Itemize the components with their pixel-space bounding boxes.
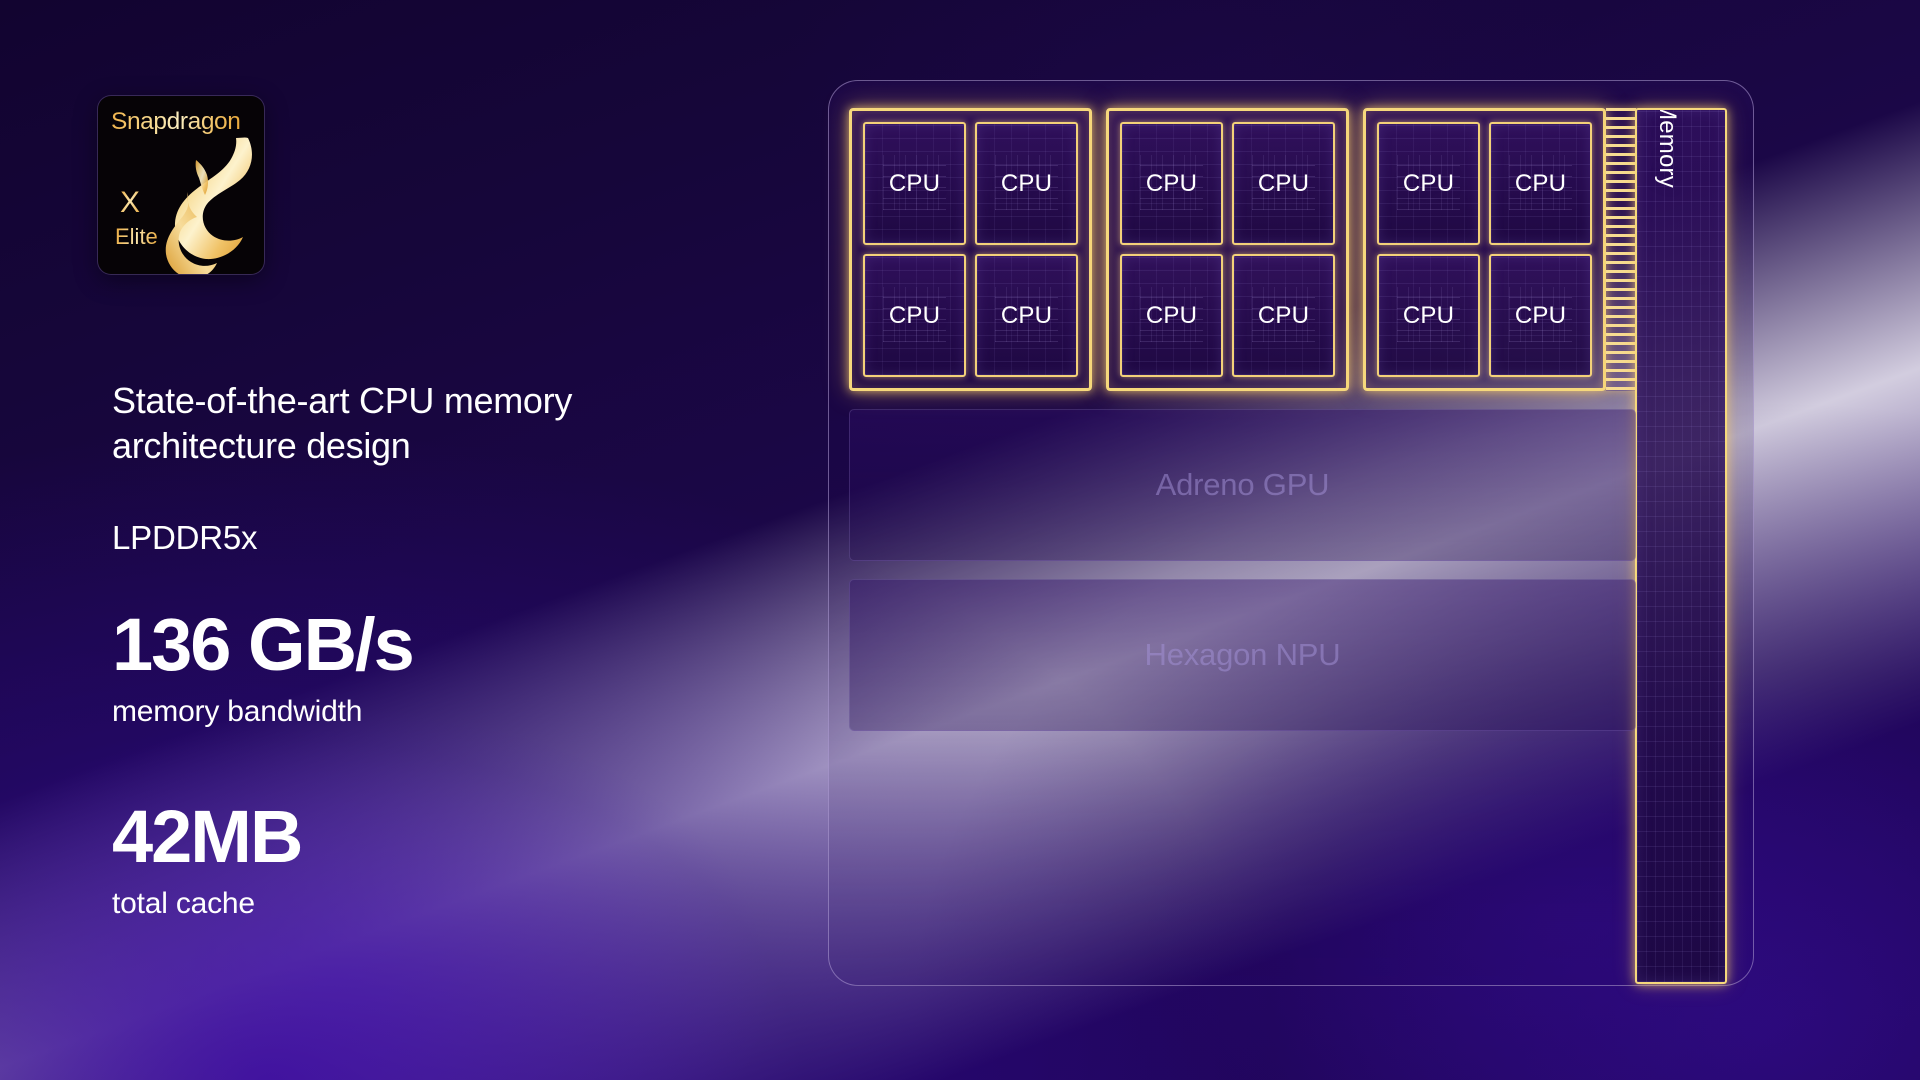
cpu-core-label: CPU bbox=[1515, 170, 1566, 198]
snapdragon-flame-icon bbox=[152, 134, 264, 274]
cpu-core: CPU bbox=[1377, 122, 1480, 245]
cpu-core: CPU bbox=[1489, 122, 1592, 245]
metric-cache-value: 42MB bbox=[112, 801, 752, 874]
logo-tier-letter: X bbox=[120, 188, 140, 218]
cpu-core: CPU bbox=[1232, 254, 1335, 377]
metric-cache: 42MB total cache bbox=[112, 801, 752, 921]
cpu-core-label: CPU bbox=[1146, 302, 1197, 330]
soc-diagram: CPU CPU CPU CPU CPU CPU CPU CPU CPU CPU … bbox=[828, 80, 1754, 986]
cpu-core: CPU bbox=[863, 122, 966, 245]
cpu-core-label: CPU bbox=[1258, 170, 1309, 198]
cpu-core: CPU bbox=[1120, 122, 1223, 245]
cpu-core-label: CPU bbox=[1403, 170, 1454, 198]
memory-type-label: LPDDR5x bbox=[112, 518, 752, 558]
memory-block: Memory bbox=[1635, 108, 1727, 984]
hexagon-npu-label: Hexagon NPU bbox=[1145, 637, 1341, 673]
headline: State-of-the-art CPU memory architecture… bbox=[112, 378, 752, 469]
metric-bandwidth-caption: memory bandwidth bbox=[112, 695, 752, 730]
cpu-core-label: CPU bbox=[889, 170, 940, 198]
cpu-core: CPU bbox=[1489, 254, 1592, 377]
snapdragon-x-elite-logo: Snapdragon X Elite bbox=[98, 96, 264, 274]
cpu-core-label: CPU bbox=[1001, 302, 1052, 330]
adreno-gpu-label: Adreno GPU bbox=[1156, 467, 1330, 503]
logo-brand-text: Snapdragon bbox=[111, 108, 241, 136]
metric-bandwidth-value: 136 GB/s bbox=[112, 609, 752, 682]
cpu-core: CPU bbox=[1377, 254, 1480, 377]
cpu-core: CPU bbox=[975, 122, 1078, 245]
copy-block: State-of-the-art CPU memory architecture… bbox=[112, 378, 752, 921]
memory-label: Memory bbox=[1653, 108, 1681, 188]
cpu-cluster-3: CPU CPU CPU CPU bbox=[1363, 108, 1606, 391]
cpu-cluster-1: CPU CPU CPU CPU bbox=[849, 108, 1092, 391]
cpu-core-label: CPU bbox=[889, 302, 940, 330]
cpu-core-label: CPU bbox=[1515, 302, 1566, 330]
cpu-core-label: CPU bbox=[1001, 170, 1052, 198]
cpu-cluster-2: CPU CPU CPU CPU bbox=[1106, 108, 1349, 391]
cpu-core-label: CPU bbox=[1258, 302, 1309, 330]
adreno-gpu-block: Adreno GPU bbox=[849, 409, 1636, 561]
cpu-core: CPU bbox=[863, 254, 966, 377]
cpu-core: CPU bbox=[975, 254, 1078, 377]
metric-bandwidth: 136 GB/s memory bandwidth bbox=[112, 609, 752, 729]
hexagon-npu-block: Hexagon NPU bbox=[849, 579, 1636, 731]
metric-cache-caption: total cache bbox=[112, 887, 752, 922]
cpu-memory-bus bbox=[1606, 108, 1636, 391]
cpu-core: CPU bbox=[1232, 122, 1335, 245]
cpu-core: CPU bbox=[1120, 254, 1223, 377]
slide-canvas: Snapdragon X Elite bbox=[0, 0, 1920, 1080]
cpu-core-label: CPU bbox=[1146, 170, 1197, 198]
cpu-core-label: CPU bbox=[1403, 302, 1454, 330]
